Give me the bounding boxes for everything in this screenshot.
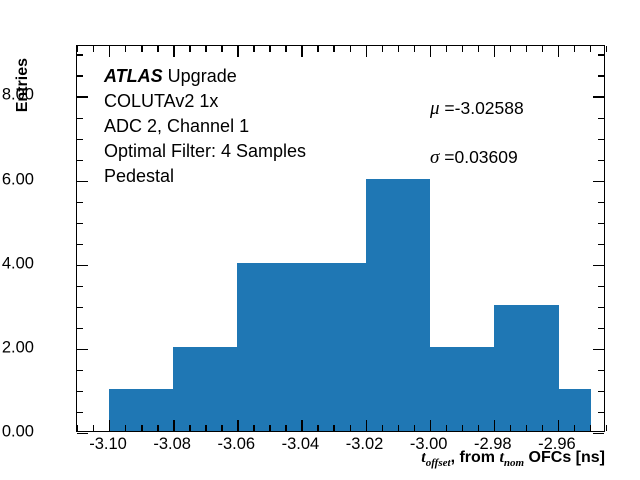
axis-tick (157, 46, 158, 52)
axis-tick (382, 425, 383, 431)
axis-tick (77, 181, 88, 182)
atlas-label: ATLAS Upgrade (104, 64, 306, 89)
axis-tick (462, 425, 463, 431)
axis-tick (77, 349, 88, 350)
y-tick-label: 4.00 (2, 254, 34, 273)
mu-symbol: μ (430, 98, 440, 119)
axis-tick (109, 420, 110, 431)
x-tick-label: -2.98 (474, 435, 512, 454)
x-tick-label: -3.04 (282, 435, 320, 454)
axis-tick (598, 412, 604, 413)
y-tick-label: 6.00 (2, 170, 34, 189)
axis-tick (141, 46, 142, 52)
axis-tick (77, 96, 88, 97)
axis-tick (77, 425, 78, 431)
axis-tick (77, 433, 88, 434)
axis-tick (301, 46, 302, 57)
axis-tick (125, 425, 126, 431)
axis-tick (542, 46, 543, 52)
atlas-tag: ATLAS (104, 66, 163, 86)
histogram-bar (430, 347, 463, 431)
axis-tick (333, 425, 334, 431)
stat-mean: μ =-3.02588 (430, 98, 524, 120)
axis-tick (598, 391, 604, 392)
axis-tick (125, 46, 126, 52)
axis-tick (598, 75, 604, 76)
axis-tick (77, 286, 83, 287)
axis-tick (526, 425, 527, 431)
plot-canvas: Entries ATLAS Upgrade COLUTAv2 1x ADC 2,… (0, 0, 640, 480)
axis-tick (350, 46, 351, 52)
statistics-block: μ =-3.02588 σ =0.03609 (430, 98, 524, 196)
histogram-bar (301, 263, 334, 431)
axis-tick (598, 328, 604, 329)
axis-tick (478, 46, 479, 52)
axis-tick (510, 425, 511, 431)
axis-tick (593, 265, 604, 266)
axis-tick (77, 223, 83, 224)
axis-tick (414, 425, 415, 431)
atlas-suffix: Upgrade (163, 66, 237, 86)
axis-tick (237, 420, 238, 431)
axis-tick (558, 46, 559, 57)
axis-tick (221, 425, 222, 431)
x-tick-label: -3.06 (217, 435, 255, 454)
axis-tick (590, 46, 591, 52)
axis-tick (333, 46, 334, 52)
axis-tick (478, 425, 479, 431)
stat-sigma: σ =0.03609 (430, 147, 524, 169)
axis-tick (606, 46, 607, 52)
annotation-block: ATLAS Upgrade COLUTAv2 1x ADC 2, Channel… (104, 64, 306, 189)
axis-tick (77, 265, 88, 266)
axis-tick (285, 425, 286, 431)
axis-tick (598, 223, 604, 224)
histogram-bar (462, 347, 495, 431)
axis-tick (189, 425, 190, 431)
axis-tick (382, 46, 383, 52)
axis-tick (205, 425, 206, 431)
mu-value: -3.02588 (455, 98, 524, 118)
axis-tick (593, 349, 604, 350)
axis-tick (77, 202, 83, 203)
axis-tick (366, 420, 367, 431)
axis-tick (237, 46, 238, 57)
y-axis-title: Entries (14, 4, 32, 58)
axis-tick (77, 118, 83, 119)
axis-tick (189, 46, 190, 52)
axis-tick (109, 46, 110, 57)
mu-equals: = (440, 98, 455, 118)
axis-tick (598, 54, 604, 55)
axis-tick (593, 181, 604, 182)
axis-tick (598, 202, 604, 203)
axis-tick (598, 307, 604, 308)
x-tick-label: -2.96 (538, 435, 576, 454)
x-tick-label: -3.00 (410, 435, 448, 454)
axis-tick (205, 46, 206, 52)
axis-tick (93, 425, 94, 431)
axis-tick (77, 244, 83, 245)
axis-tick (526, 46, 527, 52)
x-tick-label: -3.02 (346, 435, 384, 454)
axis-tick (93, 46, 94, 52)
annotation-line-0: COLUTAv2 1x (104, 89, 306, 114)
x-axis-title-sub2: nom (504, 457, 524, 469)
axis-tick (77, 370, 83, 371)
histogram-bar (494, 305, 527, 431)
y-tick-label: 0.00 (2, 423, 34, 442)
y-tick-label: 8.00 (2, 86, 34, 105)
histogram-bar (205, 347, 238, 431)
axis-tick (77, 160, 83, 161)
axis-tick (598, 244, 604, 245)
x-axis-title: toffset, from tnom OFCs [ns] (421, 449, 605, 469)
histogram-bar (398, 179, 431, 431)
x-axis-title-sub1: offset (426, 457, 451, 469)
axis-tick (253, 46, 254, 52)
annotation-line-3: Pedestal (104, 164, 306, 189)
axis-tick (77, 328, 83, 329)
axis-tick (221, 46, 222, 52)
axis-tick (510, 46, 511, 52)
axis-tick (593, 433, 604, 434)
axis-tick (253, 425, 254, 431)
histogram-bar (526, 305, 559, 431)
axis-tick (462, 46, 463, 52)
axis-tick (598, 370, 604, 371)
axis-tick (606, 425, 607, 431)
axis-tick (269, 425, 270, 431)
axis-tick (77, 412, 83, 413)
axis-tick (414, 46, 415, 52)
axis-tick (430, 420, 431, 431)
annotation-line-1: ADC 2, Channel 1 (104, 114, 306, 139)
axis-tick (593, 96, 604, 97)
sigma-value: 0.03609 (454, 147, 517, 167)
axis-tick (141, 425, 142, 431)
x-tick-label: -3.10 (89, 435, 127, 454)
y-tick-label: 2.00 (2, 338, 34, 357)
axis-tick (574, 425, 575, 431)
axis-tick (77, 46, 78, 52)
axis-tick (494, 420, 495, 431)
axis-tick (366, 46, 367, 57)
sigma-equals: = (439, 147, 454, 167)
axis-tick (317, 46, 318, 52)
axis-tick (398, 425, 399, 431)
histogram-bar (333, 263, 366, 431)
axis-tick (590, 425, 591, 431)
axis-tick (173, 46, 174, 57)
axis-tick (494, 46, 495, 57)
histogram-bar (269, 263, 302, 431)
axis-tick (558, 420, 559, 431)
axis-tick (173, 420, 174, 431)
x-tick-label: -3.08 (153, 435, 191, 454)
axis-tick (574, 46, 575, 52)
axis-tick (317, 425, 318, 431)
axis-tick (77, 139, 83, 140)
histogram-bar (237, 263, 270, 431)
axis-tick (598, 160, 604, 161)
axis-tick (430, 46, 431, 57)
axis-tick (77, 307, 83, 308)
axis-tick (301, 420, 302, 431)
axis-tick (77, 54, 83, 55)
sigma-symbol: σ (430, 147, 439, 168)
histogram-bar (366, 179, 399, 431)
axis-tick (446, 425, 447, 431)
axis-tick (77, 75, 83, 76)
axis-tick (398, 46, 399, 52)
histogram-bar (173, 347, 206, 431)
axis-tick (285, 46, 286, 52)
axis-tick (157, 425, 158, 431)
axis-tick (598, 286, 604, 287)
axis-tick (542, 425, 543, 431)
axis-tick (269, 46, 270, 52)
annotation-line-2: Optimal Filter: 4 Samples (104, 139, 306, 164)
axis-tick (77, 391, 83, 392)
axis-tick (598, 118, 604, 119)
axis-tick (350, 425, 351, 431)
axis-tick (598, 139, 604, 140)
axis-tick (446, 46, 447, 52)
